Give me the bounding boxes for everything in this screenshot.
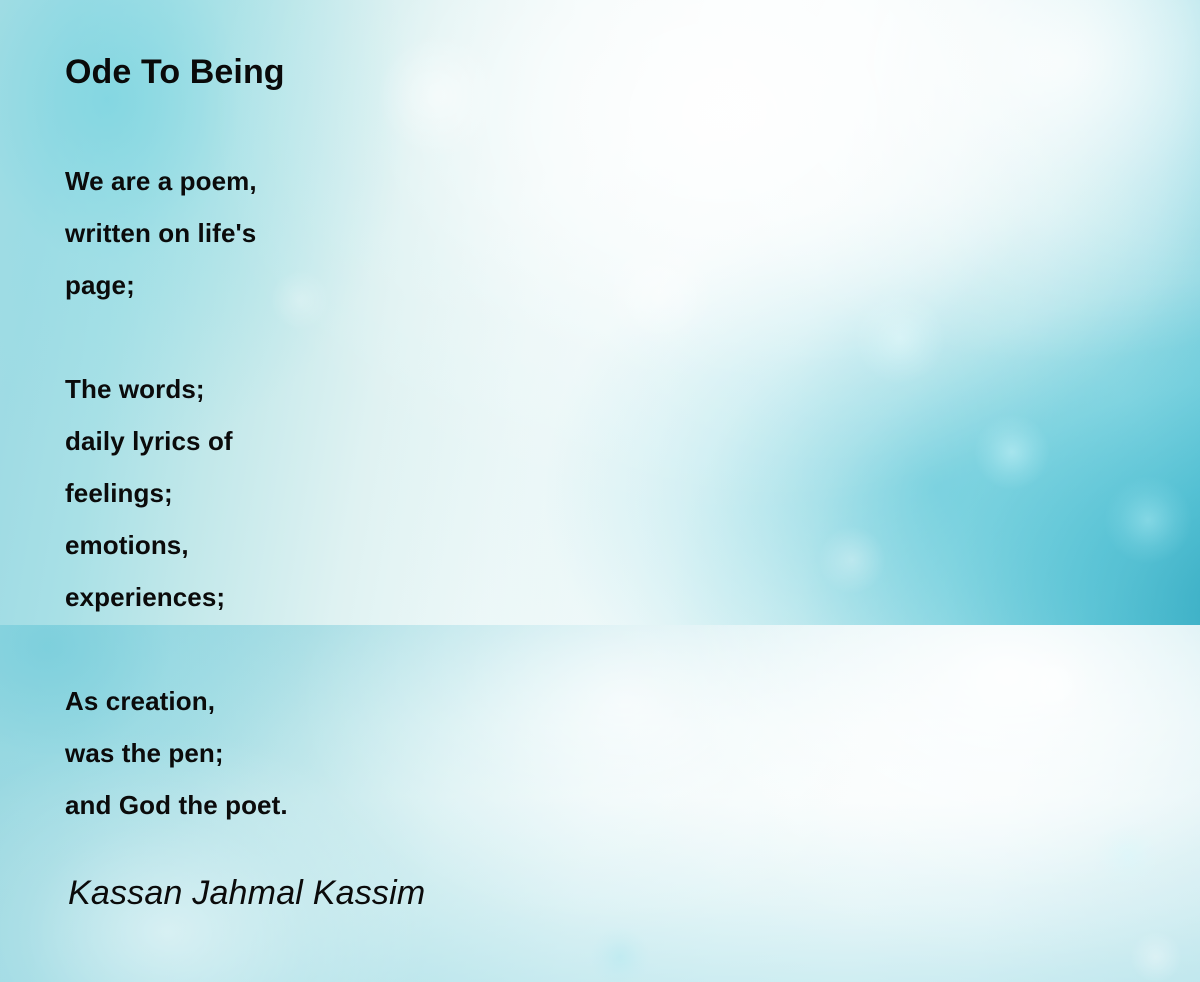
poem-author-name: Kassan Jahmal Kassim [68, 872, 425, 914]
poem-line: feelings; [65, 467, 885, 519]
poem-line: daily lyrics of [65, 415, 885, 467]
poem-line: experiences; [65, 571, 885, 623]
poem-line: emotions, [65, 519, 885, 571]
poem-stanza: As creation, was the pen; and God the po… [65, 675, 885, 831]
poem-title: Ode To Being [65, 52, 285, 92]
poem-line: The words; [65, 363, 885, 415]
poem-line: and God the poet. [65, 779, 885, 831]
poem-line: written on life's [65, 207, 885, 259]
poem-line: As creation, [65, 675, 885, 727]
poem-line: page; [65, 259, 885, 311]
poem-body: We are a poem, written on life's page; T… [65, 155, 885, 831]
poem-line: We are a poem, [65, 155, 885, 207]
poem-text-container: Ode To Being We are a poem, written on l… [0, 0, 1200, 982]
poem-line: was the pen; [65, 727, 885, 779]
poem-image-card: Ode To Being We are a poem, written on l… [0, 0, 1200, 982]
poem-stanza: The words; daily lyrics of feelings; emo… [65, 363, 885, 623]
poem-stanza: We are a poem, written on life's page; [65, 155, 885, 311]
